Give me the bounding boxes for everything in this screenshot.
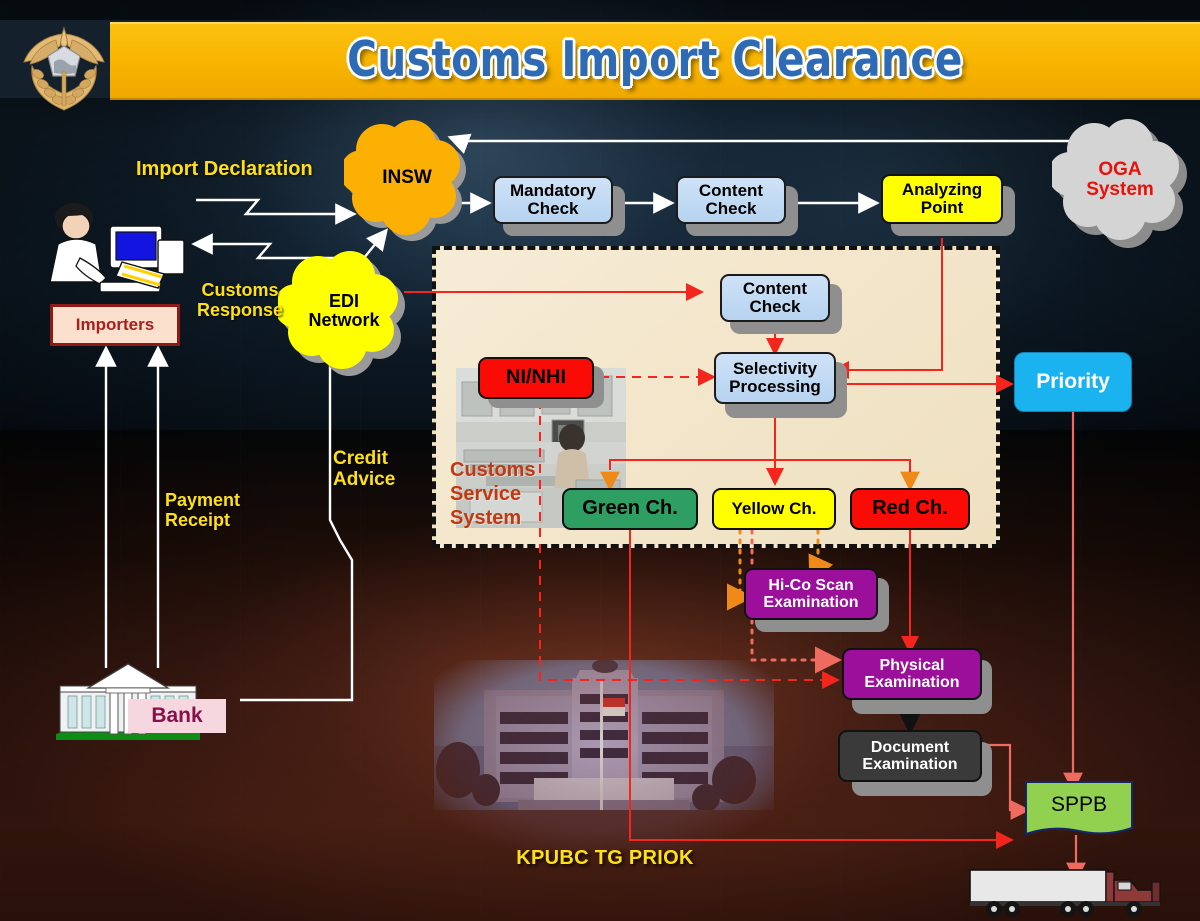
content-check-line2: Check (749, 298, 800, 316)
ni-nhi-label: NI/NHI (506, 367, 566, 389)
label-payment-receipt: Payment Receipt (165, 490, 265, 530)
content-check-top-box[interactable]: Content Check (676, 176, 786, 224)
physical-line1: Physical (880, 657, 945, 674)
content-check-line1: Content (743, 280, 807, 298)
customs-service-system-label: Customs Service System (450, 458, 560, 530)
analyzing-point-line2: Point (921, 199, 964, 217)
yellow-channel-box[interactable]: Yellow Ch. (712, 488, 836, 530)
mandatory-check-box[interactable]: Mandatory Check (493, 176, 613, 224)
content-check-top-line2: Check (705, 200, 756, 218)
physical-examination-box[interactable]: Physical Examination (842, 648, 982, 700)
document-line2: Examination (862, 756, 957, 773)
payment-receipt-line1: Payment (165, 490, 265, 510)
customs-emblem-icon (12, 16, 116, 120)
selectivity-processing-box[interactable]: Selectivity Processing (714, 352, 836, 404)
selectivity-line1: Selectivity (733, 360, 817, 378)
analyzing-point-box[interactable]: Analyzing Point (881, 174, 1003, 224)
diagram-canvas: Customs Import Clearance (0, 0, 1200, 921)
credit-advice-line2: Advice (333, 469, 415, 490)
red-channel-box[interactable]: Red Ch. (850, 488, 970, 530)
hico-scan-examination-box[interactable]: Hi-Co Scan Examination (744, 568, 878, 620)
oga-line2: System (1086, 180, 1154, 200)
green-channel-box[interactable]: Green Ch. (562, 488, 698, 530)
content-check-box[interactable]: Content Check (720, 274, 830, 322)
customs-response-line2: Response (192, 300, 288, 320)
kpubc-building-photo (434, 660, 774, 850)
site-label: KPUBC TG PRIOK (430, 847, 780, 870)
document-examination-box[interactable]: Document Examination (838, 730, 982, 782)
cloud-oga-system[interactable]: OGA System (1052, 118, 1194, 250)
cloud-edi-network[interactable]: EDI Network (278, 250, 410, 378)
label-import-declaration: Import Declaration (136, 158, 313, 180)
label-credit-advice: Credit Advice (333, 448, 415, 491)
mandatory-check-line2: Check (527, 200, 578, 218)
hico-line2: Examination (763, 594, 858, 611)
oga-line1: OGA (1098, 160, 1141, 180)
importers-label: Importers (76, 315, 154, 335)
cloud-insw[interactable]: INSW (344, 118, 470, 244)
page-title: Customs Import Clearance (154, 22, 1157, 96)
css-line2: Service (450, 482, 560, 506)
customs-response-line1: Customs (192, 280, 288, 300)
sppb-label-wrap: SPPB (1024, 780, 1134, 830)
edi-line1: EDI (329, 292, 359, 311)
edi-line2: Network (308, 311, 379, 330)
css-line3: System (450, 506, 560, 530)
bank-box[interactable]: Bank (128, 699, 226, 733)
hico-line1: Hi-Co Scan (768, 577, 853, 594)
yellow-channel-label: Yellow Ch. (731, 500, 816, 518)
truck-icon (968, 866, 1173, 918)
analyzing-point-line1: Analyzing (902, 181, 982, 199)
label-customs-response: Customs Response (192, 280, 288, 320)
content-check-top-line1: Content (699, 182, 763, 200)
red-channel-label: Red Ch. (872, 498, 948, 520)
selectivity-line2: Processing (729, 378, 821, 396)
sppb-label: SPPB (1051, 794, 1107, 817)
priority-box[interactable]: Priority (1014, 352, 1132, 412)
green-channel-label: Green Ch. (582, 498, 678, 520)
cloud-oga-system-label: OGA System (1046, 110, 1194, 250)
credit-advice-line1: Credit (333, 448, 415, 469)
bank-label: Bank (151, 704, 202, 728)
cloud-edi-network-label: EDI Network (278, 244, 410, 378)
mandatory-check-line1: Mandatory (510, 182, 596, 200)
physical-line2: Examination (864, 674, 959, 691)
css-line1: Customs (450, 458, 560, 482)
priority-label: Priority (1036, 371, 1110, 394)
ni-nhi-box[interactable]: NI/NHI (478, 357, 594, 399)
cloud-insw-label: INSW (344, 112, 470, 244)
person-at-computer-icon (38, 196, 188, 306)
document-line1: Document (871, 739, 949, 756)
importers-box[interactable]: Importers (50, 304, 180, 346)
payment-receipt-line2: Receipt (165, 510, 265, 530)
